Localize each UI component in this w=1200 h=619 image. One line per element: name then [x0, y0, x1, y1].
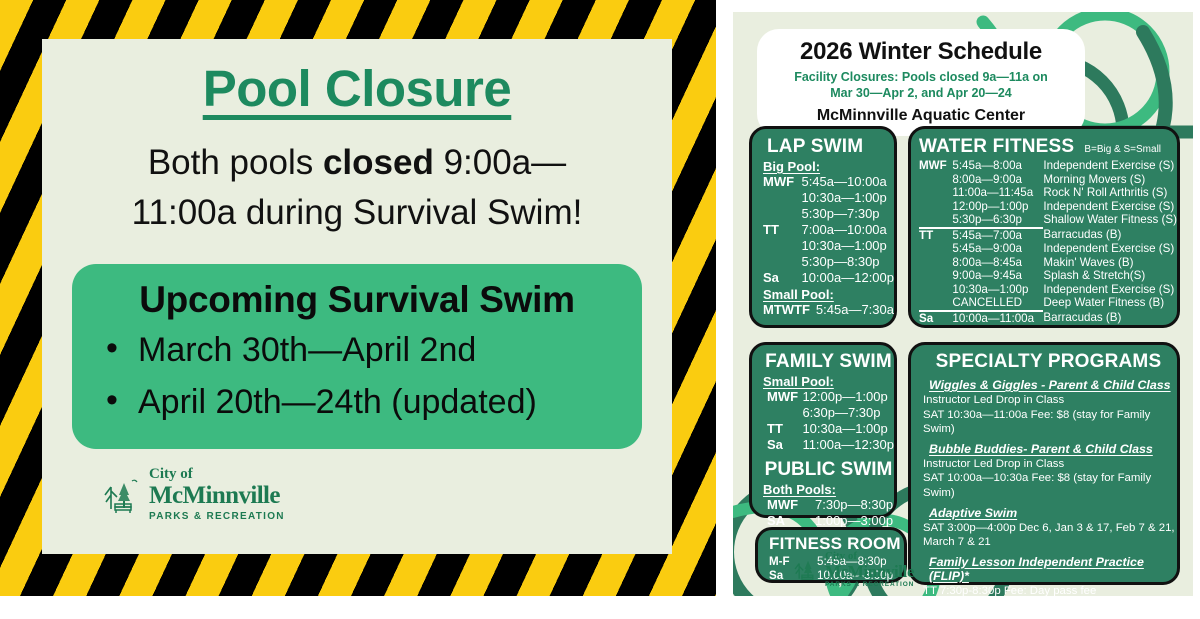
- day-cell: [919, 200, 952, 214]
- water-fitness-table: MWF5:45a—8:00aIndependent Exercise (S) 8…: [919, 159, 1177, 325]
- day-cell: TT: [763, 421, 802, 437]
- lap-swim-small-pool-heading: Small Pool:: [763, 287, 894, 302]
- closure-message: Both pools closed 9:00a— 11:00a during S…: [42, 138, 672, 237]
- tree-and-bench-icon: [102, 475, 140, 515]
- table-row: 8:00a—8:45aMakin' Waves (B): [919, 256, 1177, 270]
- city-logo-flyer: City of McMinnville PARKS & RECREATION: [793, 551, 1179, 589]
- time-cell: 8:00a—8:45a: [952, 256, 1043, 270]
- day-cell: Sa: [763, 270, 801, 286]
- list-item: April 20th—24th (updated): [100, 377, 620, 429]
- logo-line-city-of: City of: [149, 467, 285, 482]
- time-cell: 11:00a—12:30p: [802, 437, 894, 453]
- time-cell: 5:30p—6:30p: [952, 213, 1043, 228]
- day-cell: MWF: [763, 497, 815, 513]
- logo-line-parks-recreation: PARKS & RECREATION: [825, 582, 914, 589]
- day-cell: [763, 405, 802, 421]
- program-detail: SAT 3:00p—4:00p Dec 6, Jan 3 & 17, Feb 7…: [923, 521, 1177, 536]
- table-row: 9:00a—9:45aSplash & Stretch(S): [919, 269, 1177, 283]
- program-name: Wiggles & Giggles - Parent & Child Class: [929, 378, 1177, 392]
- table-row: Sa11:00a—12:30p: [763, 437, 894, 453]
- lap-swim-big-pool-heading: Big Pool:: [763, 159, 894, 174]
- facility-name: McMinnville Aquatic Center: [771, 107, 1071, 125]
- day-cell: [919, 283, 952, 297]
- table-row: 5:30p—8:30p: [763, 254, 894, 270]
- upcoming-survival-swim-card: Upcoming Survival Swim March 30th—April …: [72, 264, 642, 448]
- lap-swim-box: LAP SWIM Big Pool: MWF5:45a—10:00a 10:30…: [749, 126, 897, 328]
- time-cell: 5:30p—7:30p: [801, 206, 894, 222]
- day-cell: MWF: [763, 174, 801, 190]
- logo-line-mcminnville: McMinnville: [825, 563, 914, 580]
- class-cell: Independent Exercise (S): [1043, 242, 1177, 256]
- day-cell: MWF: [763, 389, 802, 405]
- closures-line-1: Facility Closures: Pools closed 9a—11a o…: [794, 70, 1048, 84]
- survival-swim-dates-list: March 30th—April 2nd April 20th—24th (up…: [94, 325, 620, 428]
- closures-line-2: Mar 30—Apr 2, and Apr 20—24: [830, 86, 1012, 100]
- day-cell: MWF: [919, 159, 952, 173]
- time-cell: 8:00a—9:00a: [952, 173, 1043, 187]
- logo-line-mcminnville: McMinnville: [149, 483, 285, 508]
- table-row: MWF5:45a—10:00a: [763, 174, 894, 190]
- day-cell: [763, 238, 801, 254]
- time-cell: 10:30a—1:00p: [802, 421, 894, 437]
- day-cell: [763, 254, 801, 270]
- day-cell: [763, 206, 801, 222]
- city-logo: City of McMinnville PARKS & RECREATION: [102, 467, 285, 522]
- class-cell: Deep Water Fitness (B): [1043, 296, 1177, 311]
- table-row: 12:00p—1:00pIndependent Exercise (S): [919, 200, 1177, 214]
- table-row: TT5:45a—7:00aBarracudas (B): [919, 228, 1177, 243]
- day-cell: [919, 296, 952, 311]
- class-cell: Rock N' Roll Arthritis (S): [1043, 186, 1177, 200]
- page-title: Pool Closure: [42, 59, 672, 118]
- closure-message-part2: 9:00a—: [434, 143, 566, 182]
- table-row: 11:00a—11:45aRock N' Roll Arthritis (S): [919, 186, 1177, 200]
- screenshot-canvas: Pool Closure Both pools closed 9:00a— 11…: [0, 0, 1200, 619]
- program-detail: Instructor Led Drop in Class: [923, 457, 1177, 472]
- logo-line-parks-recreation: PARKS & RECREATION: [149, 512, 285, 522]
- class-cell: Splash & Stretch(S): [1043, 269, 1177, 283]
- time-cell: 10:30a—1:00p: [952, 283, 1043, 297]
- day-cell: [919, 256, 952, 270]
- tree-and-bench-icon: [793, 555, 819, 583]
- closure-message-line2: 11:00a during Survival Swim!: [132, 193, 583, 232]
- public-swim-pool-heading: Both Pools:: [763, 482, 894, 497]
- table-row: TT7:00a—10:00a: [763, 222, 894, 238]
- water-fitness-header: WATER FITNESS B=Big & S=Small: [919, 136, 1177, 158]
- day-cell: [919, 269, 952, 283]
- family-swim-table: MWF12:00p—1:00p 6:30p—7:30p TT10:30a—1:0…: [763, 389, 894, 453]
- flyer-header-card: 2026 Winter Schedule Facility Closures: …: [757, 29, 1085, 136]
- card-heading: Upcoming Survival Swim: [94, 279, 620, 321]
- class-cell: Independent Exercise (S): [1043, 159, 1177, 173]
- table-row: MTWTF5:45a—7:30a: [763, 302, 894, 318]
- time-cell: 5:45a—9:00a: [952, 242, 1043, 256]
- time-cell: 5:45a—10:00a: [801, 174, 894, 190]
- pool-size-legend: B=Big & S=Small: [1084, 144, 1161, 155]
- flyer-title: 2026 Winter Schedule: [771, 38, 1071, 66]
- table-row: CANCELLEDDeep Water Fitness (B): [919, 296, 1177, 311]
- table-row: MWF7:30p—8:30p: [763, 497, 893, 513]
- table-row: 5:45a—9:00aIndependent Exercise (S): [919, 242, 1177, 256]
- class-cell: Shallow Water Fitness (S): [1043, 213, 1177, 228]
- table-row: 10:30a—1:00pIndependent Exercise (S): [919, 283, 1177, 297]
- specialty-programs-box: SPECIALTY PROGRAMS Wiggles & Giggles - P…: [908, 342, 1180, 585]
- table-row: 6:30p—7:30p: [763, 405, 894, 421]
- table-row: 10:30a—1:00p: [763, 190, 894, 206]
- class-cell: Makin' Waves (B): [1043, 256, 1177, 270]
- logo-wordmark: City of McMinnville PARKS & RECREATION: [825, 551, 914, 589]
- family-swim-pool-heading: Small Pool:: [763, 374, 894, 389]
- table-row: 8:00a—9:00aMorning Movers (S): [919, 173, 1177, 187]
- time-cell: CANCELLED: [952, 296, 1043, 311]
- logo-wordmark: City of McMinnville PARKS & RECREATION: [149, 467, 285, 522]
- day-cell: TT: [919, 228, 952, 243]
- class-cell: Morning Movers (S): [1043, 173, 1177, 187]
- family-swim-title: FAMILY SWIM: [763, 351, 894, 373]
- time-cell: 7:00a—10:00a: [801, 222, 894, 238]
- table-row: TT10:30a—1:00p: [763, 421, 894, 437]
- program-detail: March 7 & 21: [923, 535, 1177, 550]
- logo-line-city-of: City of: [825, 551, 914, 562]
- poster-content: Pool Closure Both pools closed 9:00a— 11…: [42, 39, 672, 554]
- day-cell: [919, 242, 952, 256]
- facility-closures-note: Facility Closures: Pools closed 9a—11a o…: [771, 69, 1071, 102]
- water-fitness-title: WATER FITNESS: [919, 136, 1074, 158]
- time-cell: 5:45a—7:00a: [952, 228, 1043, 243]
- program-detail: SAT 10:30a—11:00a Fee: $8 (stay for Fami…: [923, 408, 1177, 437]
- time-cell: 6:30p—7:30p: [802, 405, 894, 421]
- time-cell: 10:00a—11:00a: [952, 311, 1043, 326]
- day-cell: [919, 213, 952, 228]
- lap-swim-title: LAP SWIM: [767, 136, 894, 158]
- water-fitness-box: WATER FITNESS B=Big & S=Small MWF5:45a—8…: [908, 126, 1180, 328]
- class-cell: Independent Exercise (S): [1043, 283, 1177, 297]
- time-cell: 11:00a—11:45a: [952, 186, 1043, 200]
- table-row: Sa10:00a—12:00p: [763, 270, 894, 286]
- closure-message-emphasis: closed: [323, 143, 434, 182]
- table-row: 5:30p—7:30p: [763, 206, 894, 222]
- time-cell: 5:45a—7:30a: [816, 302, 894, 318]
- day-cell: Sa: [919, 311, 952, 326]
- class-cell: Barracudas (B): [1043, 228, 1177, 243]
- time-cell: 9:00a—9:45a: [952, 269, 1043, 283]
- day-cell: TT: [763, 222, 801, 238]
- day-cell: Sa: [763, 437, 802, 453]
- list-item: March 30th—April 2nd: [100, 325, 620, 377]
- closure-message-part1: Both pools: [148, 143, 323, 182]
- day-cell: [763, 190, 801, 206]
- table-row: MWF12:00p—1:00p: [763, 389, 894, 405]
- program-detail: SAT 10:00a—10:30a Fee: $8 (stay for Fami…: [923, 471, 1177, 500]
- lap-swim-big-pool-table: MWF5:45a—10:00a 10:30a—1:00p 5:30p—7:30p…: [763, 174, 894, 286]
- pool-closure-poster: Pool Closure Both pools closed 9:00a— 11…: [0, 0, 716, 596]
- day-cell: [919, 186, 952, 200]
- public-swim-title: PUBLIC SWIM: [763, 459, 894, 481]
- winter-schedule-flyer: 2026 Winter Schedule Facility Closures: …: [733, 12, 1193, 596]
- time-cell: 10:30a—1:00p: [801, 190, 894, 206]
- program-name: Bubble Buddies- Parent & Child Class: [929, 442, 1177, 456]
- family-and-public-swim-box: FAMILY SWIM Small Pool: MWF12:00p—1:00p …: [749, 342, 897, 518]
- table-row: MWF5:45a—8:00aIndependent Exercise (S): [919, 159, 1177, 173]
- time-cell: 10:00a—12:00p: [801, 270, 894, 286]
- lap-swim-small-pool-table: MTWTF5:45a—7:30a: [763, 302, 894, 318]
- table-row: 5:30p—6:30pShallow Water Fitness (S): [919, 213, 1177, 228]
- time-cell: 5:30p—8:30p: [801, 254, 894, 270]
- time-cell: 5:45a—8:00a: [952, 159, 1043, 173]
- public-swim-table: MWF7:30p—8:30p SA1:00p—3:00p: [763, 497, 893, 529]
- day-cell: [919, 173, 952, 187]
- program-detail: Instructor Led Drop in Class: [923, 393, 1177, 408]
- program-name: Adaptive Swim: [929, 506, 1177, 520]
- specialty-programs-title: SPECIALTY PROGRAMS: [920, 351, 1177, 373]
- time-cell: 10:30a—1:00p: [801, 238, 894, 254]
- table-row: Sa10:00a—11:00aBarracudas (B): [919, 311, 1177, 326]
- table-row: 10:30a—1:00p: [763, 238, 894, 254]
- class-cell: Barracudas (B): [1043, 311, 1177, 326]
- day-cell: MTWTF: [763, 302, 816, 318]
- time-cell: 12:00p—1:00p: [952, 200, 1043, 214]
- class-cell: Independent Exercise (S): [1043, 200, 1177, 214]
- time-cell: 12:00p—1:00p: [802, 389, 894, 405]
- time-cell: 7:30p—8:30p: [815, 497, 893, 513]
